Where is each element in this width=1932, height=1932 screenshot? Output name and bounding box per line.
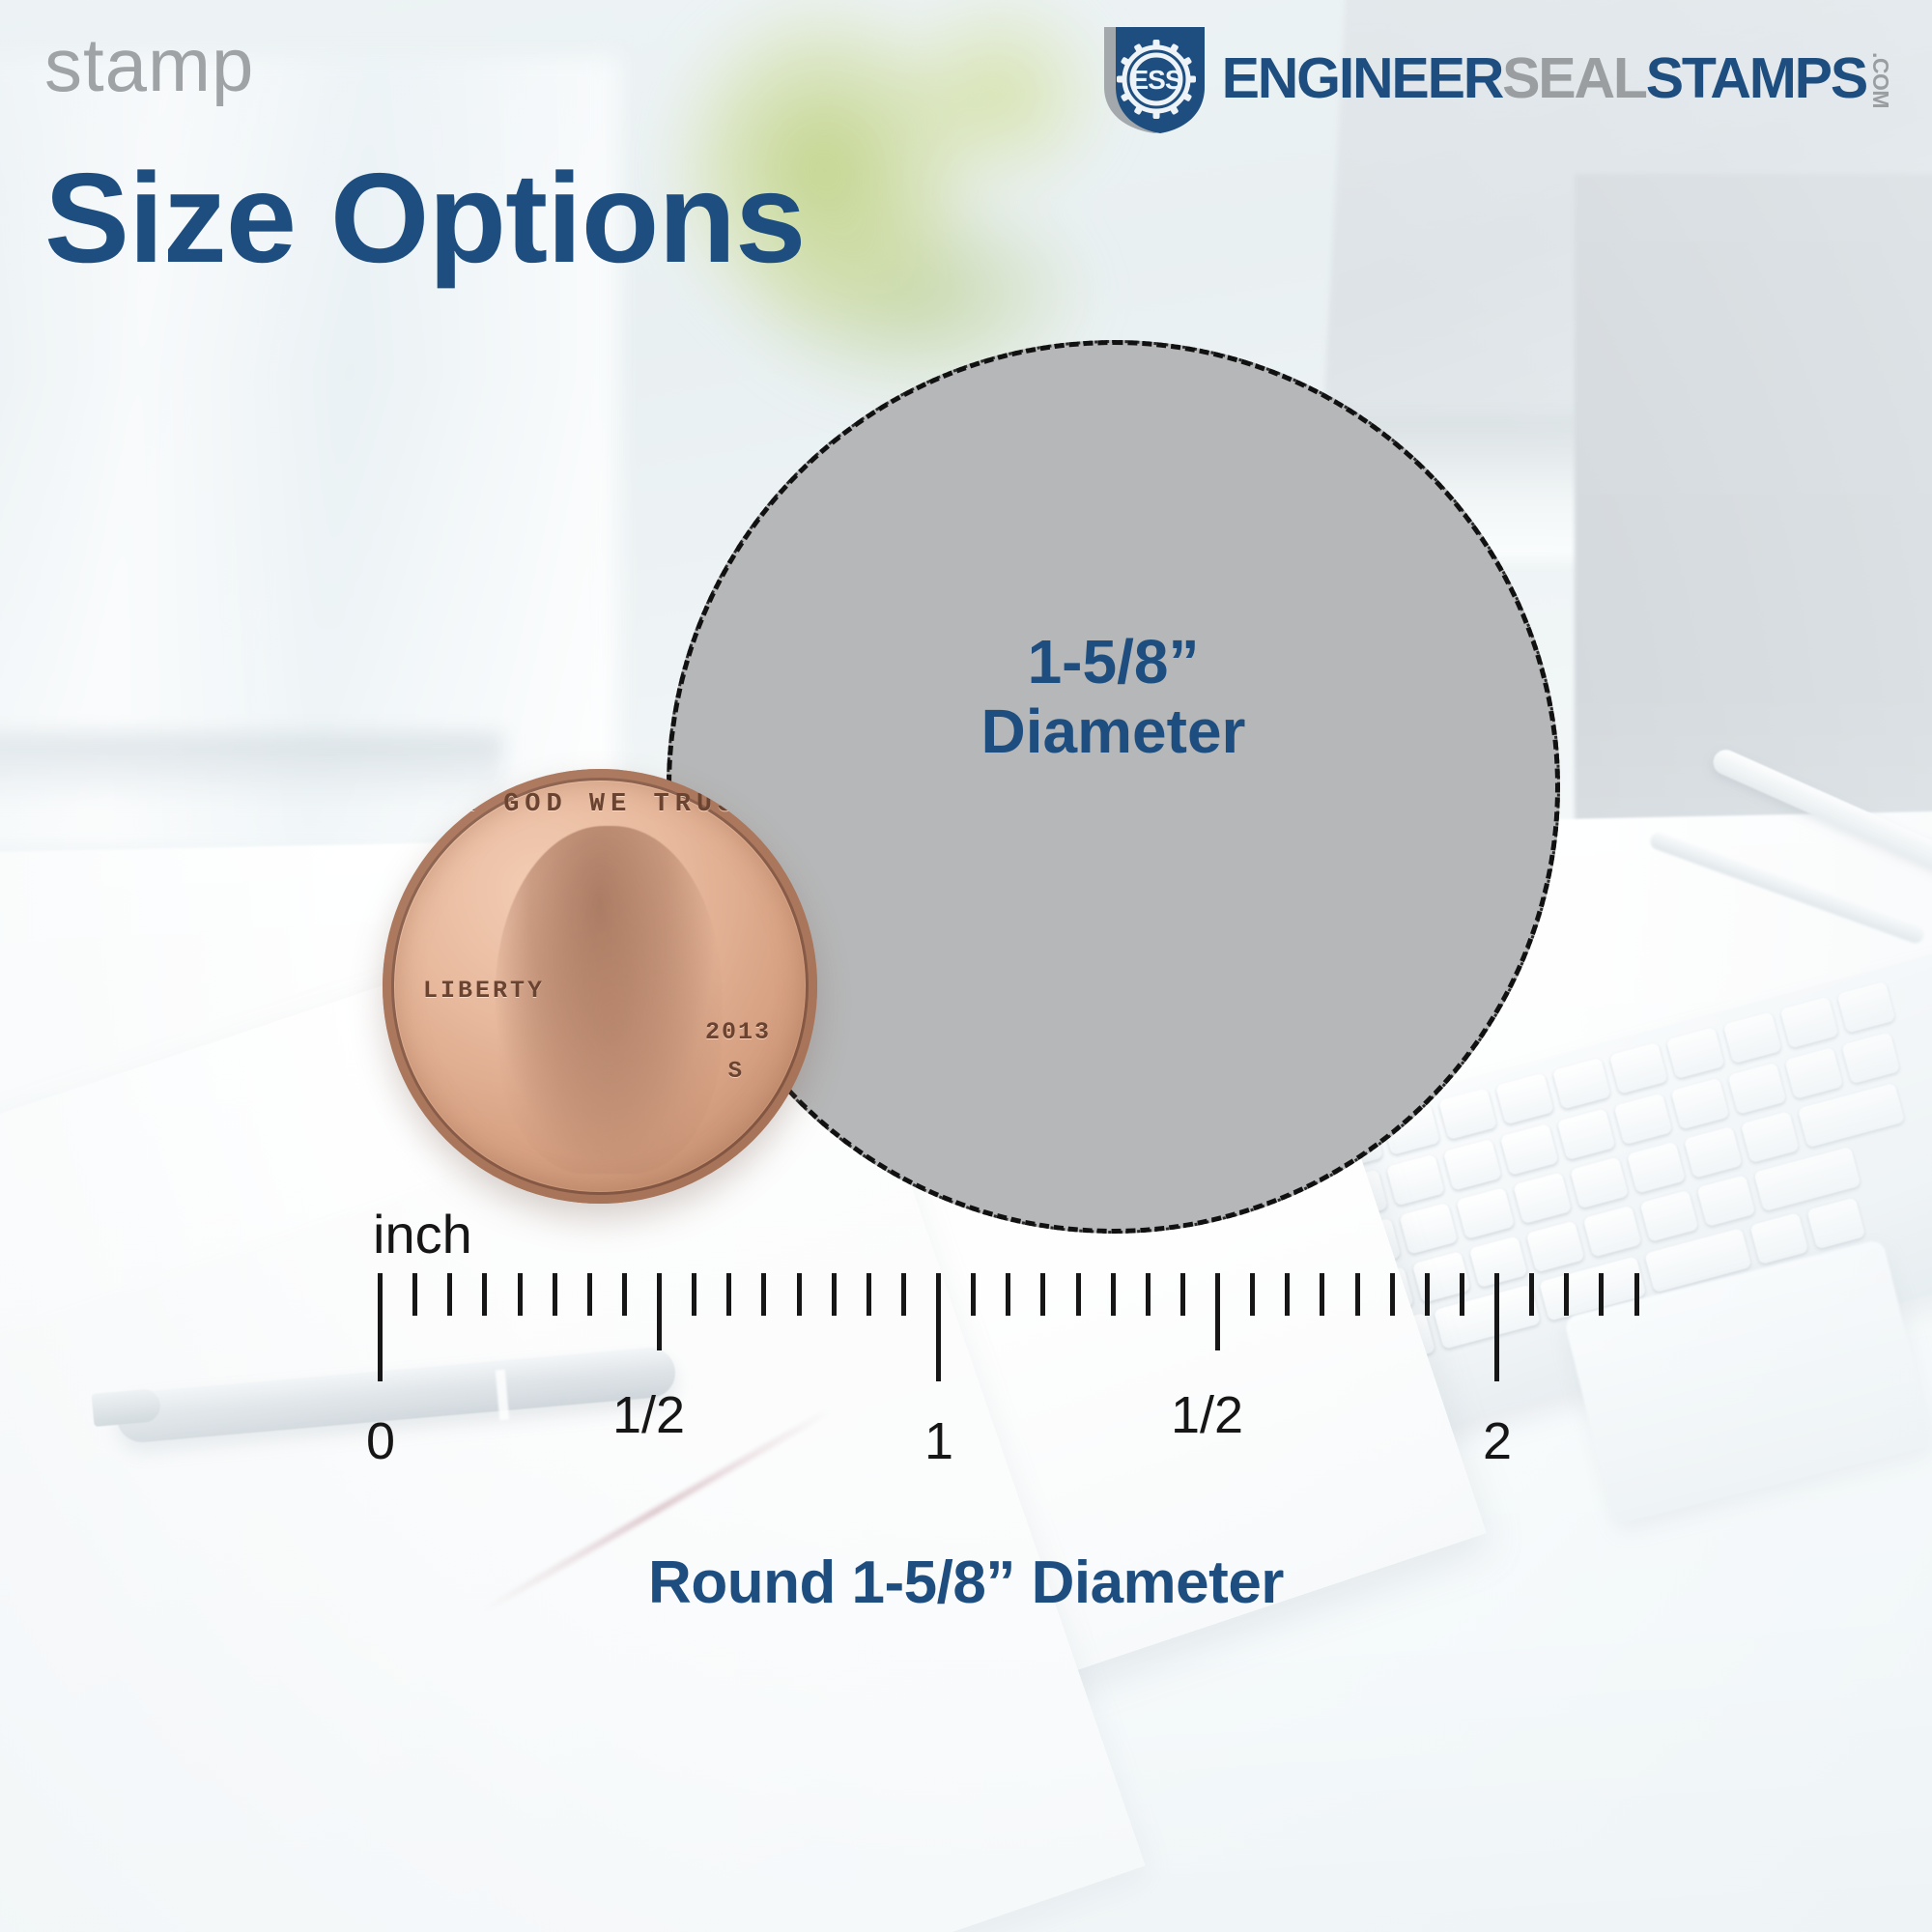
size-circle-dashed-border (667, 340, 1560, 1234)
size-preview-circle: 1-5/8” Diameter (667, 340, 1560, 1234)
eyebrow-label: stamp (44, 27, 254, 102)
size-caption: Round 1-5/8” Diameter (0, 1548, 1932, 1617)
wordmark-seal: SEAL (1502, 50, 1646, 107)
page-title: Size Options (44, 155, 805, 282)
brand-wordmark: ENGINEER SEAL STAMPS .COM (1222, 48, 1891, 108)
ess-shield-icon: ESS (1098, 23, 1210, 133)
penny-motto-text: IN GOD WE TRUST (383, 790, 817, 819)
wordmark-engineer: ENGINEER (1222, 50, 1503, 107)
penny-mintmark-text: S (728, 1059, 742, 1085)
size-dimension-value: 1-5/8” (671, 627, 1555, 696)
wordmark-stamps: STAMPS (1646, 50, 1866, 107)
penny-year-text: 2013 (705, 1018, 771, 1046)
wordmark-tld: .COM (1869, 52, 1891, 108)
size-circle-label: 1-5/8” Diameter (671, 627, 1555, 767)
ruler-unit-label: inch (373, 1203, 472, 1265)
penny-liberty-text: LIBERTY (423, 977, 545, 1005)
size-dimension-unit: Diameter (671, 696, 1555, 766)
brand-logo[interactable]: ESS ENGINEER SEAL STAMPS .COM (1098, 23, 1891, 133)
penny-scale-reference: IN GOD WE TRUST LIBERTY 2013 S (383, 769, 817, 1204)
svg-text:ESS: ESS (1130, 65, 1181, 95)
